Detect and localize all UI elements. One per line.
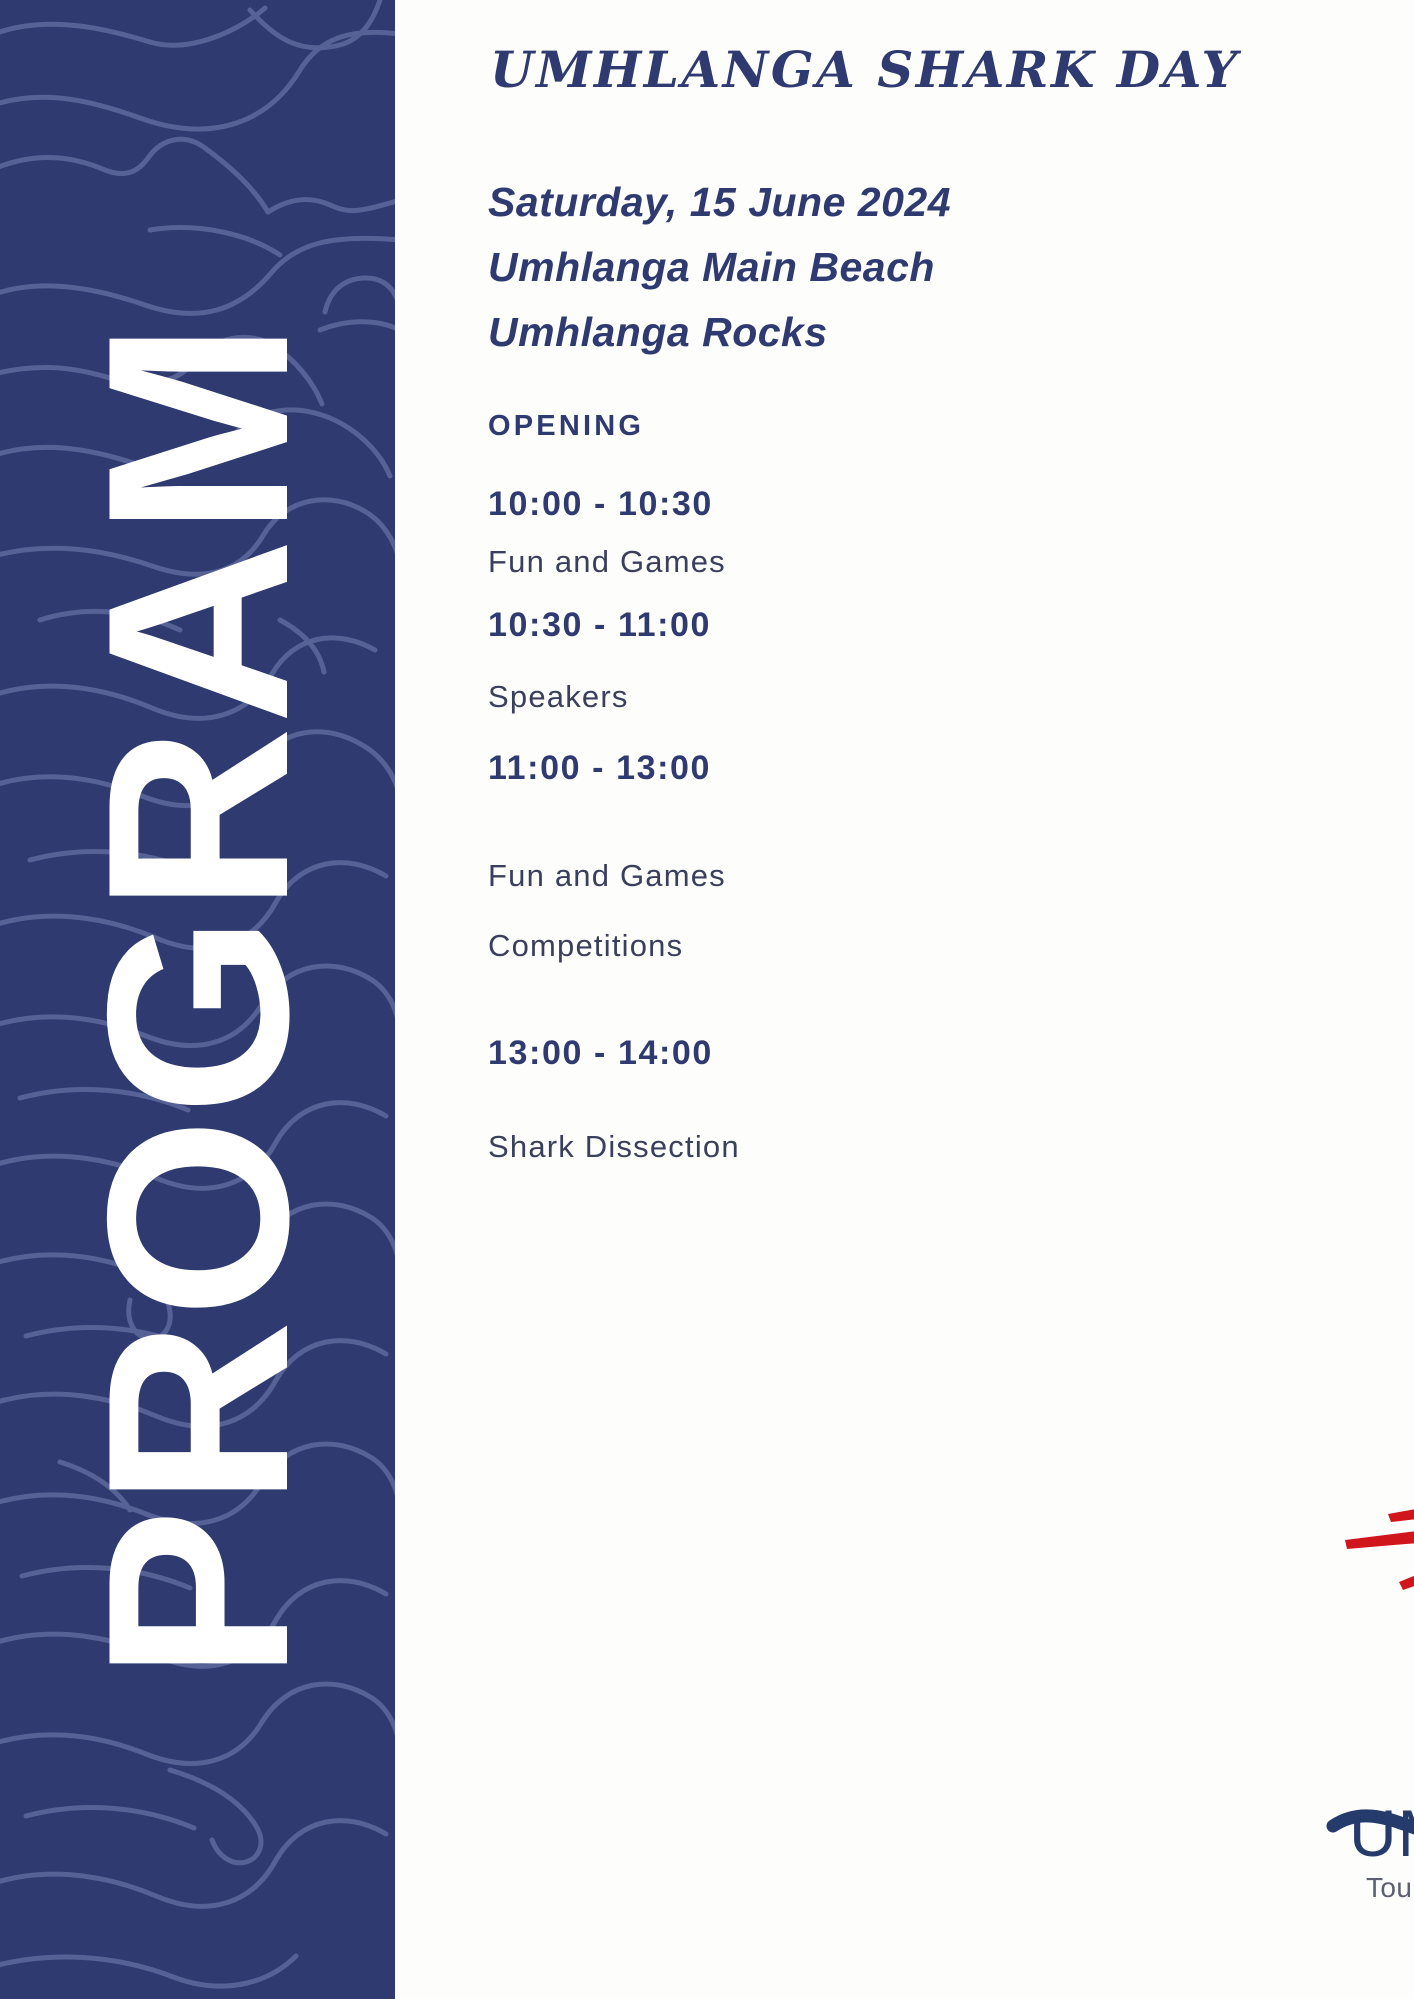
event-meta-block: Saturday, 15 June 2024 Umhlanga Main Bea… xyxy=(488,170,1308,365)
lighthouse-icon xyxy=(1325,1470,1414,1850)
schedule-item-activity: Speakers xyxy=(488,679,1328,715)
beam-rays-icon xyxy=(1345,1498,1414,1590)
schedule-item-time: 10:30 - 11:00 xyxy=(488,606,1328,645)
content-panel: UMHLANGA SHARK DAY Saturday, 15 June 202… xyxy=(395,0,1414,1999)
logo-subtitle: Tourism Information Centre xyxy=(1325,1874,1414,1902)
schedule-item-time: 11:00 - 13:00 xyxy=(488,749,1328,788)
schedule-heading: OPENING xyxy=(488,410,1328,443)
event-date: Saturday, 15 June 2024 xyxy=(488,170,1308,235)
program-wordmark: PROGRAM xyxy=(0,0,395,1999)
event-venue: Umhlanga Main Beach xyxy=(488,235,1308,300)
schedule-item-activity: Fun and Games xyxy=(488,858,1328,894)
page-title: UMHLANGA SHARK DAY xyxy=(490,40,1240,99)
umhlanga-logo: UMHLANGA Tourism Information Centre xyxy=(1325,1470,1414,1970)
schedule-item-activity: Competitions xyxy=(488,928,1328,964)
sidebar-panel: PROGRAM xyxy=(0,0,395,1999)
schedule-item-time: 10:00 - 10:30 xyxy=(488,485,1328,524)
poster-canvas: PROGRAM UMHLANGA SHARK DAY Saturday, 15 … xyxy=(0,0,1414,1999)
logo-text-block: UMHLANGA Tourism Information Centre xyxy=(1325,1800,1414,1902)
logo-name: UMHLANGA xyxy=(1325,1800,1414,1866)
schedule-item-activity: Fun and Games xyxy=(488,544,1328,580)
schedule-item-time: 13:00 - 14:00 xyxy=(488,1034,1328,1073)
event-location: Umhlanga Rocks xyxy=(488,300,1308,365)
schedule-list: OPENING 10:00 - 10:30 Fun and Games 10:3… xyxy=(488,410,1328,1165)
schedule-item-activity: Shark Dissection xyxy=(488,1129,1328,1165)
program-wordmark-text: PROGRAM xyxy=(69,319,327,1680)
